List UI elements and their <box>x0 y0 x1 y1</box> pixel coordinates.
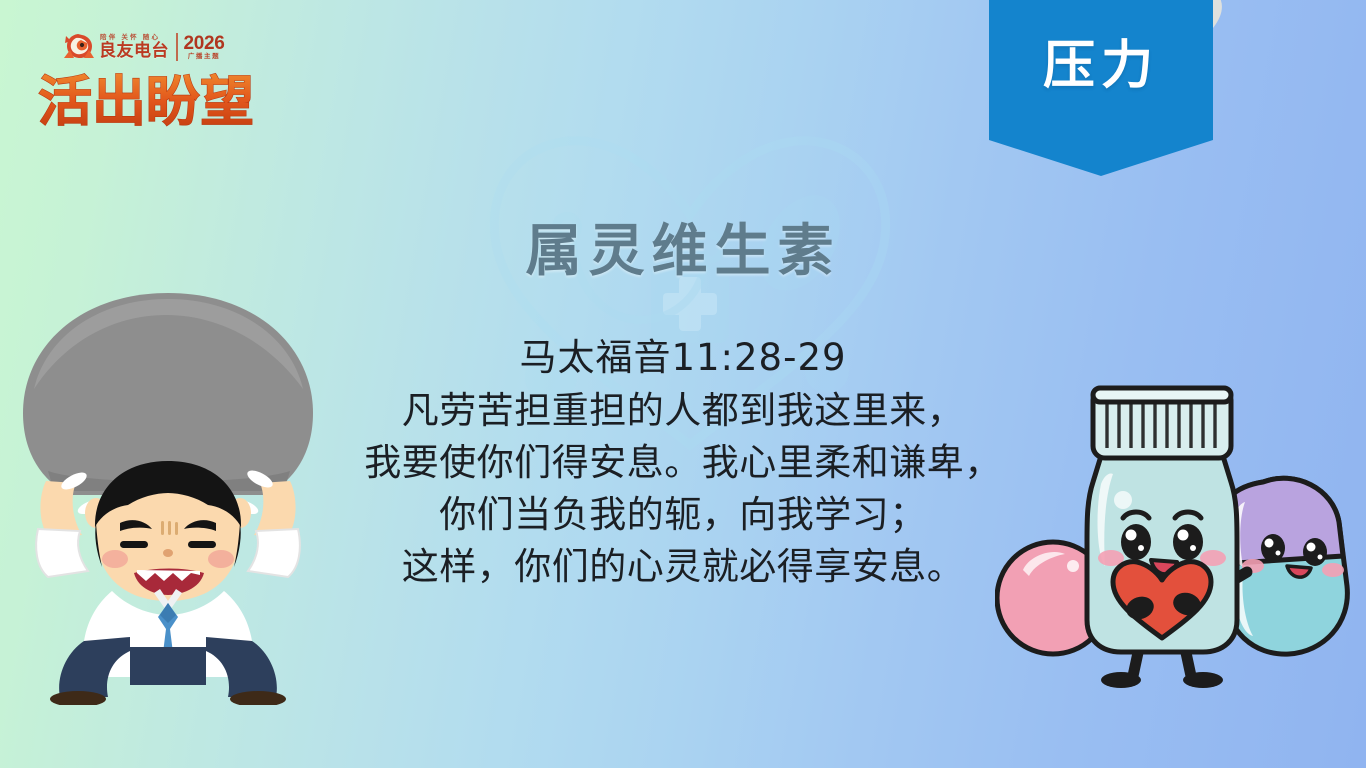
stressed-man-illustration <box>8 285 328 705</box>
slide-canvas: 陪伴 关怀 随心 良友电台 2026 广播主题 活出盼望 <box>0 0 1366 768</box>
scripture-line: 我要使你们得安息。我心里柔和谦卑， <box>293 437 1073 489</box>
topic-banner: 压力 <box>975 0 1227 176</box>
scripture-line: 凡劳苦担重担的人都到我这里来， <box>293 385 1073 437</box>
banner-label: 压力 <box>975 36 1227 96</box>
station-logo: 陪伴 关怀 随心 良友电台 2026 广播主题 活出盼望 <box>30 26 255 141</box>
rooster-flame-icon <box>62 32 96 62</box>
page-title: 属灵维生素 <box>293 215 1073 289</box>
logo-divider <box>176 33 178 61</box>
logo-station-name: 良友电台 <box>99 42 169 60</box>
scripture-line: 这样，你们的心灵就必得享安息。 <box>293 541 1073 593</box>
scripture-reference: 马太福音11:28-29 <box>293 331 1073 385</box>
medicine-characters-illustration <box>995 370 1350 700</box>
scripture-line: 你们当负我的轭，向我学习； <box>293 489 1073 541</box>
svg-text:活出盼望: 活出盼望 <box>38 70 254 133</box>
campaign-title: 活出盼望 <box>30 66 262 136</box>
main-content: 属灵维生素 马太福音11:28-29 凡劳苦担重担的人都到我这里来， 我要使你们… <box>293 215 1073 593</box>
scripture-block: 马太福音11:28-29 凡劳苦担重担的人都到我这里来， 我要使你们得安息。我心… <box>293 331 1073 593</box>
logo-tagline: 陪伴 关怀 随心 <box>100 34 169 42</box>
logo-wordmark: 陪伴 关怀 随心 良友电台 <box>99 31 169 63</box>
logo-row: 陪伴 关怀 随心 良友电台 2026 广播主题 <box>62 30 225 64</box>
logo-year-block: 2026 广播主题 <box>184 31 225 63</box>
logo-year-subtitle: 广播主题 <box>188 53 220 61</box>
logo-year: 2026 <box>184 34 225 53</box>
